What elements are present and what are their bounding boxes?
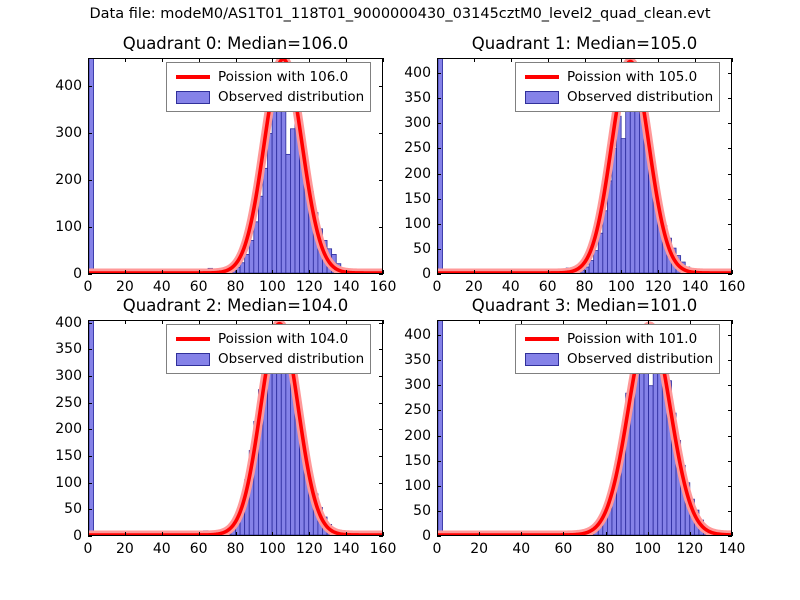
y-tick-mark (728, 224, 732, 225)
y-tick-mark (437, 360, 441, 361)
y-tick-label: 100 (55, 475, 88, 491)
y-tick-label: 250 (404, 140, 437, 156)
y-tick-mark (379, 180, 383, 181)
subplot-quadrant-2: Quadrant 2: Median=104.0 050100150200250… (88, 320, 383, 536)
x-tick-mark (585, 270, 586, 274)
legend-patch-swatch (525, 353, 559, 366)
x-tick-mark (732, 532, 733, 536)
y-tick-mark (437, 73, 441, 74)
x-tick-mark (125, 320, 126, 324)
x-tick-mark (162, 320, 163, 324)
y-tick-mark (88, 133, 92, 134)
legend-entry-observed: Observed distribution (521, 349, 713, 369)
legend-quadrant-2: Poission with 104.0 Observed distributio… (166, 324, 371, 374)
y-tick-mark (437, 174, 441, 175)
x-tick-mark (309, 532, 310, 536)
y-tick-label: 50 (64, 501, 88, 517)
figure-suptitle: Data file: modeM0/AS1T01_118T01_90000004… (0, 6, 800, 22)
x-tick-mark (88, 58, 89, 62)
legend-entry-poisson: Poission with 101.0 (521, 329, 713, 349)
x-tick-mark (272, 270, 273, 274)
x-tick-label: 40 (512, 536, 530, 557)
y-tick-mark (728, 73, 732, 74)
x-tick-mark (658, 270, 659, 274)
y-tick-mark (728, 148, 732, 149)
x-tick-label: 140 (682, 274, 709, 295)
x-tick-mark (88, 532, 89, 536)
x-tick-label: 100 (634, 536, 661, 557)
y-tick-mark (437, 123, 441, 124)
x-tick-mark (383, 58, 384, 62)
y-tick-mark (728, 410, 732, 411)
x-tick-mark (479, 532, 480, 536)
legend-label-poisson: Poission with 106.0 (218, 69, 348, 85)
y-tick-mark (437, 410, 441, 411)
legend-label-observed: Observed distribution (567, 89, 713, 105)
y-tick-label: 400 (404, 327, 437, 343)
legend-line-swatch (176, 75, 210, 79)
x-tick-label: 20 (470, 536, 488, 557)
legend-entry-poisson: Poission with 104.0 (172, 329, 364, 349)
legend-entry-poisson: Poission with 106.0 (172, 67, 364, 87)
x-tick-label: 80 (597, 536, 615, 557)
y-tick-mark (88, 456, 92, 457)
y-tick-label: 350 (55, 341, 88, 357)
y-tick-mark (437, 461, 441, 462)
y-tick-label: 150 (404, 191, 437, 207)
x-tick-mark (88, 270, 89, 274)
legend-line-swatch (176, 337, 210, 341)
legend-patch-swatch (176, 353, 210, 366)
y-tick-mark (728, 360, 732, 361)
x-tick-label: 20 (116, 536, 134, 557)
y-tick-label: 100 (55, 219, 88, 235)
y-tick-mark (728, 123, 732, 124)
y-tick-label: 250 (404, 402, 437, 418)
x-tick-label: 100 (608, 274, 635, 295)
x-tick-mark (162, 532, 163, 536)
x-tick-mark (521, 532, 522, 536)
y-tick-mark (437, 335, 441, 336)
y-tick-label: 150 (404, 453, 437, 469)
x-tick-mark (199, 270, 200, 274)
x-tick-label: 120 (676, 536, 703, 557)
y-tick-label: 300 (404, 377, 437, 393)
y-tick-label: 300 (55, 125, 88, 141)
x-tick-label: 140 (333, 274, 360, 295)
x-tick-label: 100 (259, 536, 286, 557)
legend-quadrant-3: Poission with 101.0 Observed distributio… (515, 324, 720, 374)
x-tick-mark (125, 58, 126, 62)
x-tick-label: 0 (433, 536, 442, 557)
y-tick-mark (728, 385, 732, 386)
y-tick-mark (88, 483, 92, 484)
y-tick-label: 200 (404, 166, 437, 182)
y-tick-label: 200 (404, 428, 437, 444)
x-tick-mark (88, 320, 89, 324)
x-tick-mark (236, 270, 237, 274)
x-tick-label: 60 (190, 536, 208, 557)
x-tick-mark (548, 270, 549, 274)
y-tick-mark (728, 174, 732, 175)
y-tick-label: 50 (413, 241, 437, 257)
legend-line-swatch (525, 337, 559, 341)
legend-line-swatch (525, 75, 559, 79)
y-tick-mark (437, 98, 441, 99)
y-tick-label: 150 (55, 448, 88, 464)
x-tick-label: 80 (227, 274, 245, 295)
y-tick-label: 300 (404, 115, 437, 131)
y-tick-mark (437, 148, 441, 149)
y-tick-mark (437, 436, 441, 437)
y-tick-label: 400 (55, 315, 88, 331)
subplot-title-quadrant-2: Quadrant 2: Median=104.0 (88, 296, 383, 315)
x-tick-mark (125, 270, 126, 274)
subplot-title-quadrant-0: Quadrant 0: Median=106.0 (88, 34, 383, 53)
y-tick-mark (379, 349, 383, 350)
x-tick-label: 120 (645, 274, 672, 295)
y-tick-mark (437, 486, 441, 487)
x-tick-mark (162, 270, 163, 274)
x-tick-label: 0 (433, 274, 442, 295)
y-tick-mark (379, 456, 383, 457)
x-tick-mark (474, 58, 475, 62)
legend-quadrant-0: Poission with 106.0 Observed distributio… (166, 62, 371, 112)
subplot-title-quadrant-1: Quadrant 1: Median=105.0 (437, 34, 732, 53)
x-tick-label: 0 (84, 274, 93, 295)
y-tick-mark (728, 249, 732, 250)
x-tick-label: 160 (370, 536, 397, 557)
x-tick-label: 0 (84, 536, 93, 557)
y-tick-mark (437, 511, 441, 512)
x-tick-mark (383, 270, 384, 274)
x-tick-mark (383, 320, 384, 324)
y-tick-label: 300 (55, 368, 88, 384)
y-tick-mark (88, 429, 92, 430)
legend-label-poisson: Poission with 105.0 (567, 69, 697, 85)
y-tick-label: 400 (404, 65, 437, 81)
x-tick-mark (732, 320, 733, 324)
y-tick-mark (88, 376, 92, 377)
subplot-title-quadrant-3: Quadrant 3: Median=101.0 (437, 296, 732, 315)
y-tick-mark (437, 224, 441, 225)
legend-quadrant-1: Poission with 105.0 Observed distributio… (515, 62, 720, 112)
y-tick-mark (728, 199, 732, 200)
x-tick-mark (511, 58, 512, 62)
y-tick-label: 200 (55, 421, 88, 437)
x-tick-label: 120 (296, 536, 323, 557)
y-tick-mark (88, 349, 92, 350)
y-tick-mark (379, 483, 383, 484)
y-tick-mark (379, 403, 383, 404)
x-tick-label: 60 (555, 536, 573, 557)
x-tick-mark (690, 532, 691, 536)
x-tick-mark (732, 270, 733, 274)
y-tick-mark (379, 509, 383, 510)
y-tick-mark (437, 249, 441, 250)
figure-canvas: Data file: modeM0/AS1T01_118T01_90000004… (0, 0, 800, 600)
legend-label-poisson: Poission with 104.0 (218, 331, 348, 347)
x-tick-mark (511, 270, 512, 274)
y-tick-mark (728, 511, 732, 512)
x-tick-mark (309, 270, 310, 274)
y-tick-label: 350 (404, 90, 437, 106)
x-tick-label: 20 (465, 274, 483, 295)
x-tick-mark (272, 532, 273, 536)
y-tick-mark (437, 385, 441, 386)
x-tick-mark (199, 532, 200, 536)
legend-entry-observed: Observed distribution (172, 349, 364, 369)
y-tick-label: 50 (413, 503, 437, 519)
x-tick-mark (383, 532, 384, 536)
x-tick-mark (732, 58, 733, 62)
x-tick-label: 100 (259, 274, 286, 295)
y-tick-mark (728, 486, 732, 487)
y-tick-mark (728, 335, 732, 336)
x-tick-mark (695, 270, 696, 274)
y-tick-mark (379, 227, 383, 228)
x-tick-label: 60 (539, 274, 557, 295)
y-tick-label: 350 (404, 352, 437, 368)
x-tick-mark (125, 532, 126, 536)
subplot-quadrant-0: Quadrant 0: Median=106.0 010020030040002… (88, 58, 383, 274)
x-tick-label: 40 (153, 274, 171, 295)
y-tick-mark (728, 98, 732, 99)
y-tick-label: 100 (404, 478, 437, 494)
x-tick-mark (474, 270, 475, 274)
x-tick-mark (236, 532, 237, 536)
legend-label-poisson: Poission with 101.0 (567, 331, 697, 347)
y-tick-label: 400 (55, 78, 88, 94)
legend-entry-poisson: Poission with 105.0 (521, 67, 713, 87)
legend-label-observed: Observed distribution (218, 351, 364, 367)
x-tick-mark (648, 532, 649, 536)
x-tick-mark (162, 58, 163, 62)
y-tick-label: 200 (55, 172, 88, 188)
subplot-quadrant-1: Quadrant 1: Median=105.0 050100150200250… (437, 58, 732, 274)
x-tick-mark (621, 270, 622, 274)
y-tick-mark (88, 180, 92, 181)
x-tick-mark (437, 58, 438, 62)
y-tick-mark (379, 86, 383, 87)
x-tick-mark (437, 320, 438, 324)
x-tick-label: 20 (116, 274, 134, 295)
x-tick-mark (437, 270, 438, 274)
x-tick-label: 160 (370, 274, 397, 295)
x-tick-label: 140 (333, 536, 360, 557)
y-tick-mark (379, 133, 383, 134)
y-tick-mark (728, 436, 732, 437)
y-tick-mark (379, 429, 383, 430)
x-tick-label: 140 (719, 536, 746, 557)
x-tick-mark (479, 320, 480, 324)
legend-patch-swatch (176, 91, 210, 104)
y-tick-mark (437, 199, 441, 200)
y-tick-mark (88, 227, 92, 228)
x-tick-label: 40 (502, 274, 520, 295)
x-tick-label: 40 (153, 536, 171, 557)
x-tick-mark (346, 532, 347, 536)
x-tick-label: 120 (296, 274, 323, 295)
y-tick-mark (728, 461, 732, 462)
x-tick-mark (437, 532, 438, 536)
subplot-quadrant-3: Quadrant 3: Median=101.0 050100150200250… (437, 320, 732, 536)
x-tick-mark (563, 532, 564, 536)
legend-entry-observed: Observed distribution (521, 87, 713, 107)
legend-entry-observed: Observed distribution (172, 87, 364, 107)
x-tick-mark (606, 532, 607, 536)
x-tick-label: 80 (576, 274, 594, 295)
legend-label-observed: Observed distribution (218, 89, 364, 105)
legend-patch-swatch (525, 91, 559, 104)
y-tick-mark (88, 403, 92, 404)
y-tick-mark (88, 509, 92, 510)
x-tick-label: 160 (719, 274, 746, 295)
x-tick-label: 80 (227, 536, 245, 557)
y-tick-label: 100 (404, 216, 437, 232)
x-tick-label: 60 (190, 274, 208, 295)
legend-label-observed: Observed distribution (567, 351, 713, 367)
y-tick-mark (88, 86, 92, 87)
y-tick-mark (379, 376, 383, 377)
x-tick-mark (346, 270, 347, 274)
y-tick-label: 250 (55, 395, 88, 411)
